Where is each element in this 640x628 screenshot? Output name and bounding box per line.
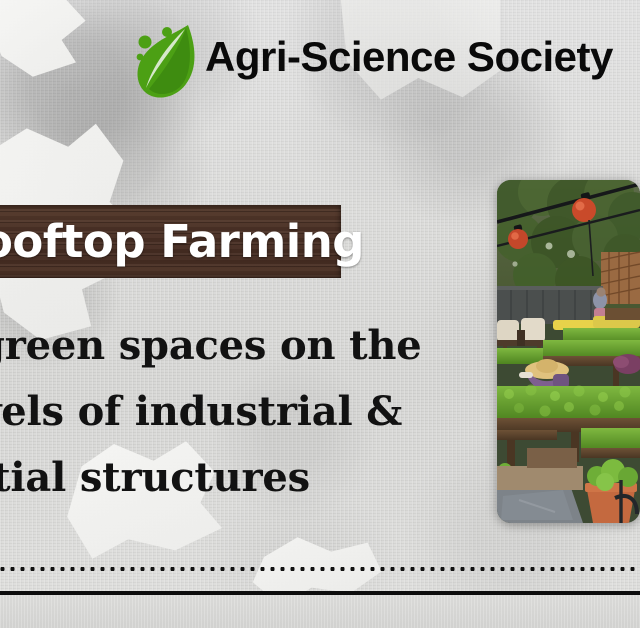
title-banner: ooftop Farming xyxy=(0,205,341,278)
body-line: levels of industrial & xyxy=(0,379,468,445)
dotted-divider xyxy=(0,566,640,572)
rooftop-garden-photo xyxy=(497,180,640,523)
leaf-logo-icon xyxy=(126,16,212,106)
slide-header: Agri-Science Society xyxy=(0,0,640,120)
body-text: e green spaces on the levels of industri… xyxy=(0,313,468,511)
presentation-slide: Agri-Science Society ooftop Farming e gr… xyxy=(0,0,640,628)
footer-strip xyxy=(0,595,640,628)
slide-title: ooftop Farming xyxy=(0,215,364,268)
brand-title: Agri-Science Society xyxy=(205,34,613,80)
footer-texture xyxy=(0,595,640,628)
body-line: ential structures xyxy=(0,445,468,511)
body-line: e green spaces on the xyxy=(0,313,468,379)
